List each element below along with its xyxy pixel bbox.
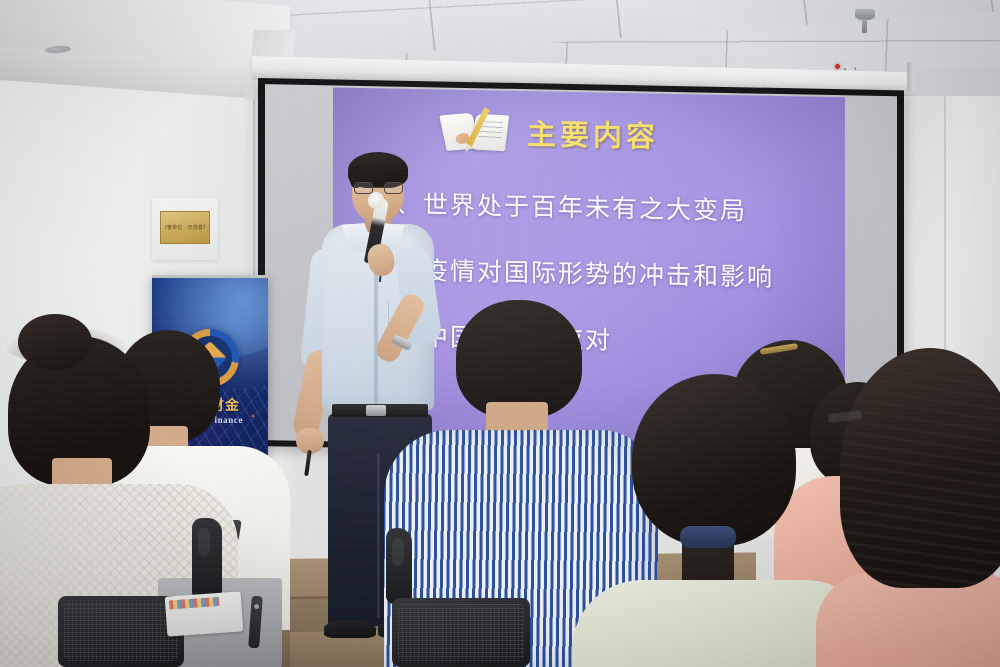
screen-up-label: ▲: [843, 66, 847, 71]
screen-mount-bracket: [907, 62, 914, 92]
presenter-pointer-device: [304, 450, 312, 476]
sprinkler-head-icon: [855, 9, 875, 20]
chair-armrest-left: [192, 518, 222, 600]
presenter-left-shoe: [324, 620, 376, 638]
hair: [632, 374, 796, 546]
open-book-icon: [441, 108, 513, 155]
audience-member-far-right: [830, 348, 1000, 667]
slide-title-row: 主要内容: [441, 108, 659, 158]
hair: [840, 348, 1000, 588]
wall-plaque-text: 荣誉单位 · 示范基地: [165, 218, 205, 237]
chair-armrest-center: [386, 528, 412, 604]
hair: [456, 300, 582, 418]
wall-plaque-frame: 荣誉单位 · 示范基地: [160, 211, 210, 244]
presentation-photo: ▲ ▼ 主要内容 一、世界处于百年未有之大变局 二、疫情对国际形势的冲击和影响: [0, 0, 1000, 667]
presenter-belt-buckle: [366, 405, 386, 416]
banner-top-rail: [152, 275, 268, 278]
screen-down-label: ▼: [853, 66, 857, 71]
hair-bun: [18, 314, 92, 370]
screen-control-labels[interactable]: ▲ ▼: [843, 62, 897, 74]
status-led-icon: [835, 64, 840, 69]
laptop[interactable]: [165, 591, 244, 636]
audience-member-front-center: [596, 374, 846, 667]
chair-front-center: [392, 598, 530, 667]
slide-title: 主要内容: [527, 111, 659, 156]
hair-tie-icon: [680, 526, 736, 548]
wall-plaque: 荣誉单位 · 示范基地: [152, 198, 218, 260]
